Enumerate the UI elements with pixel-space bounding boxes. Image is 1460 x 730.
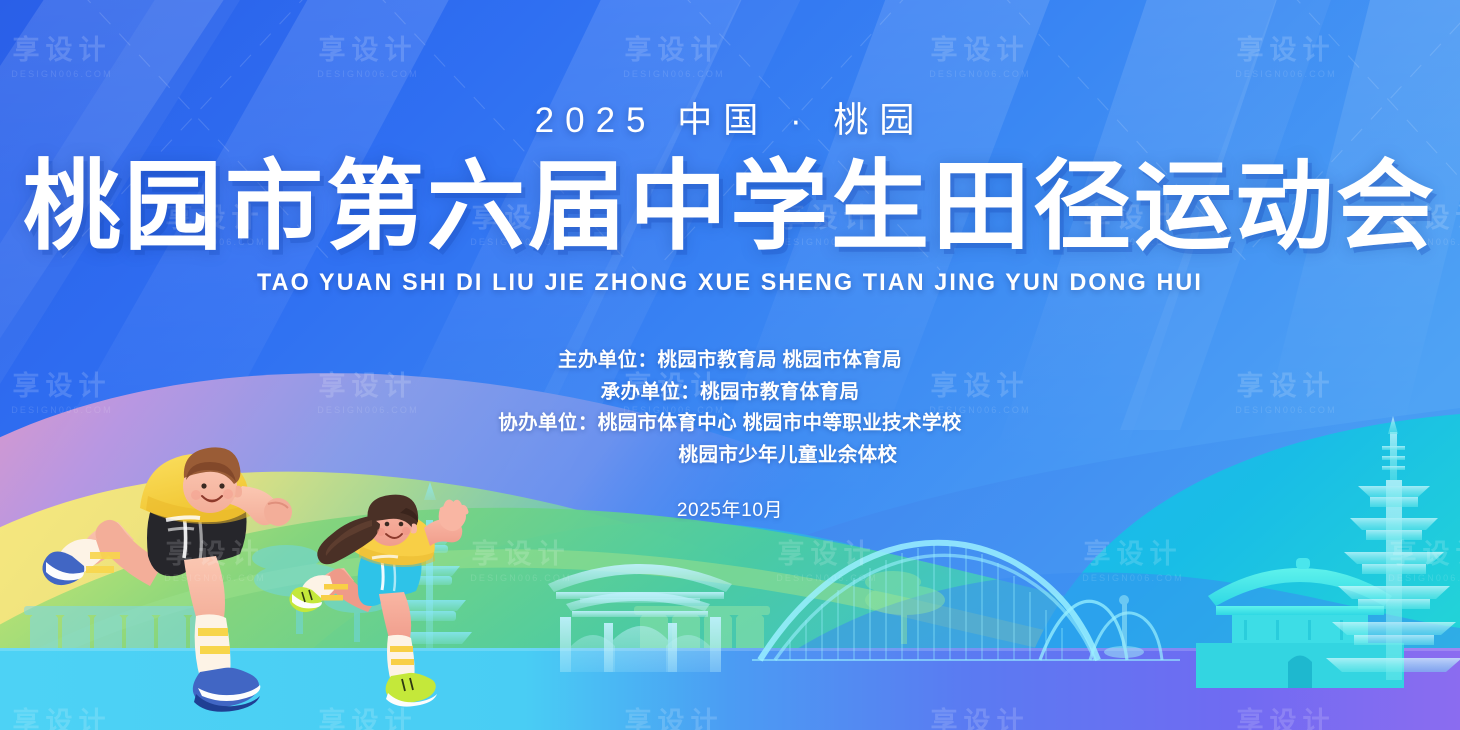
poster-text-block: 2025 中国 · 桃园 桃园市第六届中学生田径运动会 TAO YUAN SHI…: [0, 0, 1460, 522]
page-title: 桃园市第六届中学生田径运动会: [0, 157, 1460, 257]
organizer-list: 主办单位：桃园市教育局 桃园市体育局承办单位：桃园市教育体育局协办单位：桃园市体…: [0, 345, 1460, 471]
pinyin-subtitle: TAO YUAN SHI DI LIU JIE ZHONG XUE SHENG …: [22, 269, 1438, 297]
organizer-row: 承办单位：桃园市教育体育局: [0, 377, 1460, 409]
eyebrow-title: 2025 中国 · 桃园: [0, 92, 1460, 143]
organizer-row: 桃园市少年儿童业余体校: [0, 440, 1460, 472]
event-date: 2025年10月: [0, 495, 1460, 522]
poster-canvas: 享设计DESIGN006.COM享设计DESIGN006.COM享设计DESIG…: [0, 0, 1460, 730]
organizer-row: 协办单位：桃园市体育中心 桃园市中等职业技术学校: [0, 408, 1460, 440]
organizer-row: 主办单位：桃园市教育局 桃园市体育局: [0, 345, 1460, 377]
female-runner: [289, 495, 466, 707]
